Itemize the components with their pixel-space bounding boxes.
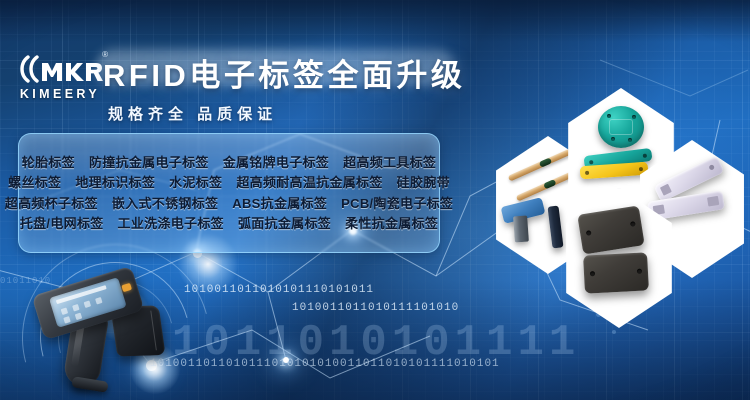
product-item[interactable]: 超高频工具标签	[343, 153, 436, 173]
product-item[interactable]: ABS抗金属标签	[232, 194, 327, 214]
product-item[interactable]: 柔性抗金属标签	[345, 214, 438, 234]
cylinder-anti-metal-tag	[547, 205, 563, 248]
binary-text: 1010011011010101110101011	[184, 284, 374, 296]
screw-body	[513, 216, 529, 243]
product-item[interactable]: 超高频杯子标签	[5, 194, 98, 214]
product-list-panel: 轮胎标签 防撞抗金属电子标签 金属铭牌电子标签 超高频工具标签 螺丝标签 地理标…	[18, 133, 440, 253]
brand-wordmark: KIMEERY	[14, 87, 106, 101]
kimeery-logo-icon: ®	[14, 52, 106, 86]
product-item[interactable]: 工业洗涤电子标签	[118, 214, 224, 234]
small-dot	[612, 330, 616, 334]
product-item[interactable]: 托盘/电网标签	[20, 214, 104, 234]
kmr-monogram-icon	[14, 52, 106, 86]
binary-text: 1010011011010111101010	[292, 302, 459, 314]
product-item[interactable]: 嵌入式不锈钢标签	[112, 194, 218, 214]
product-item[interactable]: 防撞抗金属电子标签	[89, 153, 209, 173]
binary-text: 1010011011010111010101010011011010101111…	[150, 358, 500, 370]
abs-anti-metal-tag	[583, 252, 649, 293]
page-subtitle: 规格齐全 品质保证	[108, 103, 277, 124]
product-item[interactable]: 轮胎标签	[22, 153, 75, 173]
product-item[interactable]: 弧面抗金属标签	[238, 214, 331, 234]
product-item[interactable]: 超高频耐高温抗金属标签	[236, 173, 382, 193]
product-item[interactable]: 水泥标签	[169, 173, 222, 193]
product-item[interactable]: PCB/陶瓷电子标签	[341, 194, 453, 214]
round-anti-metal-tag	[598, 106, 644, 148]
rfid-promo-banner: 1010011011010101110101011 10100110110101…	[0, 0, 750, 400]
product-list-row: 轮胎标签 防撞抗金属电子标签 金属铭牌电子标签 超高频工具标签	[19, 153, 439, 173]
page-title: RFID电子标签全面升级	[103, 50, 465, 95]
abs-anti-metal-tag	[577, 205, 644, 254]
product-item[interactable]: 硅胶腕带	[397, 173, 450, 193]
reader-battery-base	[71, 376, 108, 392]
brand-logo[interactable]: ® KIMEERY	[14, 52, 106, 101]
reader-scan-button[interactable]	[121, 283, 132, 292]
product-item[interactable]: 地理标识标签	[75, 173, 155, 193]
product-item[interactable]: 金属铭牌电子标签	[223, 153, 329, 173]
product-item[interactable]: 螺丝标签	[8, 173, 61, 193]
product-list-row: 螺丝标签 地理标识标签 水泥标签 超高频耐高温抗金属标签 硅胶腕带	[19, 173, 439, 193]
product-list-row: 托盘/电网标签 工业洗涤电子标签 弧面抗金属标签 柔性抗金属标签	[19, 214, 439, 234]
handheld-rfid-reader[interactable]	[28, 276, 178, 394]
product-list-row: 超高频杯子标签 嵌入式不锈钢标签 ABS抗金属标签 PCB/陶瓷电子标签	[19, 194, 439, 214]
